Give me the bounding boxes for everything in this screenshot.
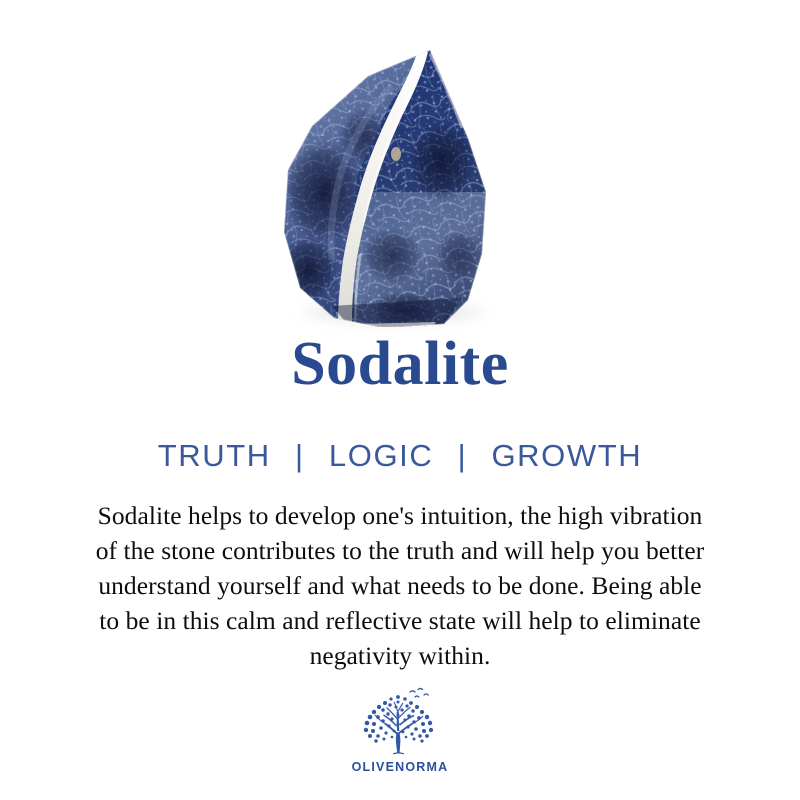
description-line: understand yourself and what needs to be… (22, 568, 778, 603)
description-line: to be in this calm and reflective state … (22, 603, 778, 638)
sodalite-crystal-image (272, 42, 512, 327)
sodalite-crystal-icon (272, 42, 512, 327)
description-text: Sodalite helps to develop one's intuitio… (22, 498, 778, 673)
keyword-truth: TRUTH (158, 438, 271, 473)
brand-logo: OLIVENORMA (0, 686, 800, 774)
keyword-list: TRUTH | LOGIC | GROWTH (0, 438, 800, 474)
keyword-logic: LOGIC (329, 438, 433, 473)
brand-name: OLIVENORMA (0, 760, 800, 774)
keyword-separator: | (281, 438, 319, 474)
keyword-separator: | (444, 438, 482, 474)
product-info-card: Sodalite TRUTH | LOGIC | GROWTH Sodalite… (0, 0, 800, 800)
page-title: Sodalite (0, 329, 800, 399)
hero-image-area (0, 0, 800, 335)
description-line: negativity within. (22, 638, 778, 673)
keyword-growth: GROWTH (491, 438, 642, 473)
description-line: of the stone contributes to the truth an… (22, 533, 778, 568)
olive-tree-icon (352, 686, 448, 758)
description-line: Sodalite helps to develop one's intuitio… (22, 498, 778, 533)
